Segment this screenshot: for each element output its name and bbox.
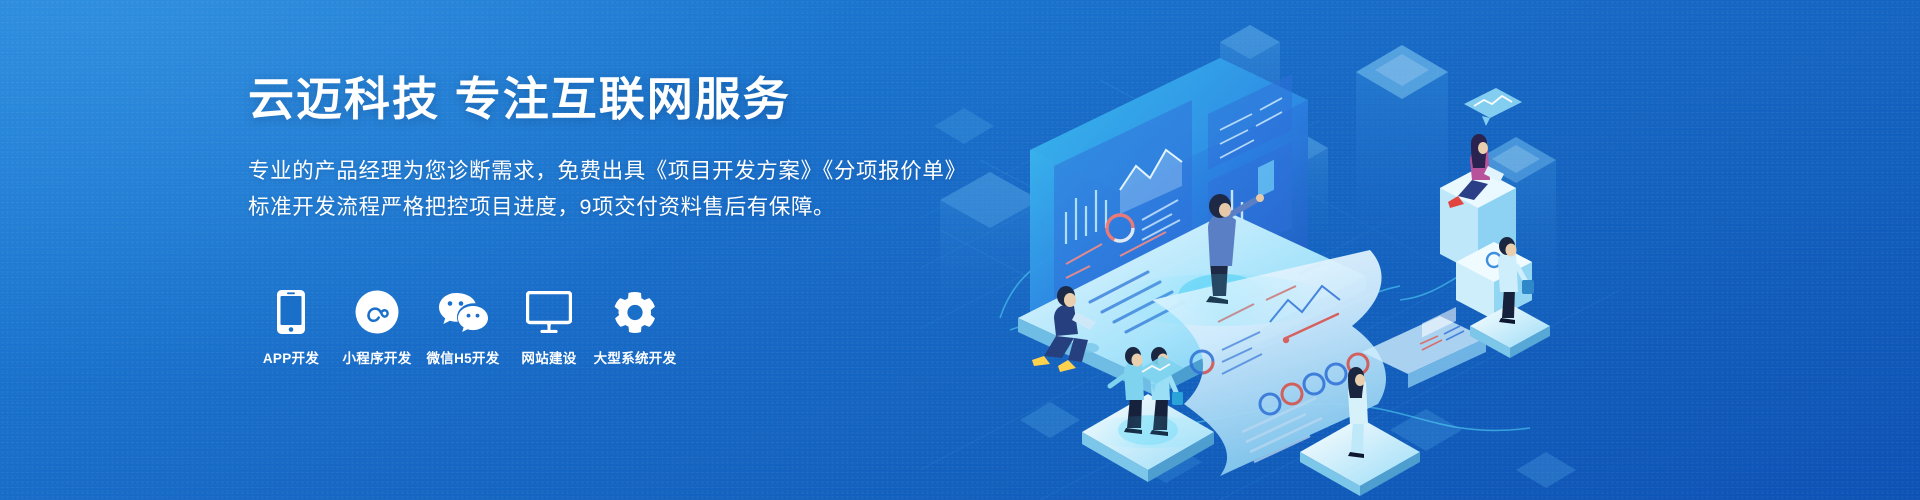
service-item-website[interactable]: 网站建设 (506, 288, 592, 367)
banner-copy: 云迈科技 专注互联网服务 专业的产品经理为您诊断需求，免费出具《项目开发方案》《… (248, 72, 1068, 225)
banner-subtitle: 专业的产品经理为您诊断需求，免费出具《项目开发方案》《分项报价单》 标准开发流程… (248, 153, 1068, 225)
subtitle-line-1: 专业的产品经理为您诊断需求，免费出具《项目开发方案》《分项报价单》 (248, 153, 1068, 189)
mini-program-icon (355, 288, 399, 336)
service-item-wechat-h5[interactable]: 微信H5开发 (420, 288, 506, 367)
service-label: 微信H5开发 (426, 347, 499, 367)
hero-banner: 云迈科技 专注互联网服务 专业的产品经理为您诊断需求，免费出具《项目开发方案》《… (0, 0, 1920, 500)
service-label: 网站建设 (521, 347, 576, 367)
wechat-icon (438, 288, 488, 336)
service-item-mini-program[interactable]: 小程序开发 (334, 288, 420, 367)
subtitle-line-2: 标准开发流程严格把控项目进度，9项交付资料售后有保障。 (248, 189, 1068, 225)
page-title: 云迈科技 专注互联网服务 (248, 72, 1068, 126)
monitor-icon (526, 288, 572, 336)
service-label: 大型系统开发 (594, 347, 677, 367)
service-label: APP开发 (263, 347, 319, 367)
gear-icon (613, 288, 657, 336)
service-icon-row: APP开发 小程序开发 (248, 288, 678, 367)
service-item-app[interactable]: APP开发 (248, 288, 334, 367)
mobile-phone-icon (276, 288, 306, 336)
service-label: 小程序开发 (343, 347, 412, 367)
service-item-large-system[interactable]: 大型系统开发 (592, 288, 678, 367)
